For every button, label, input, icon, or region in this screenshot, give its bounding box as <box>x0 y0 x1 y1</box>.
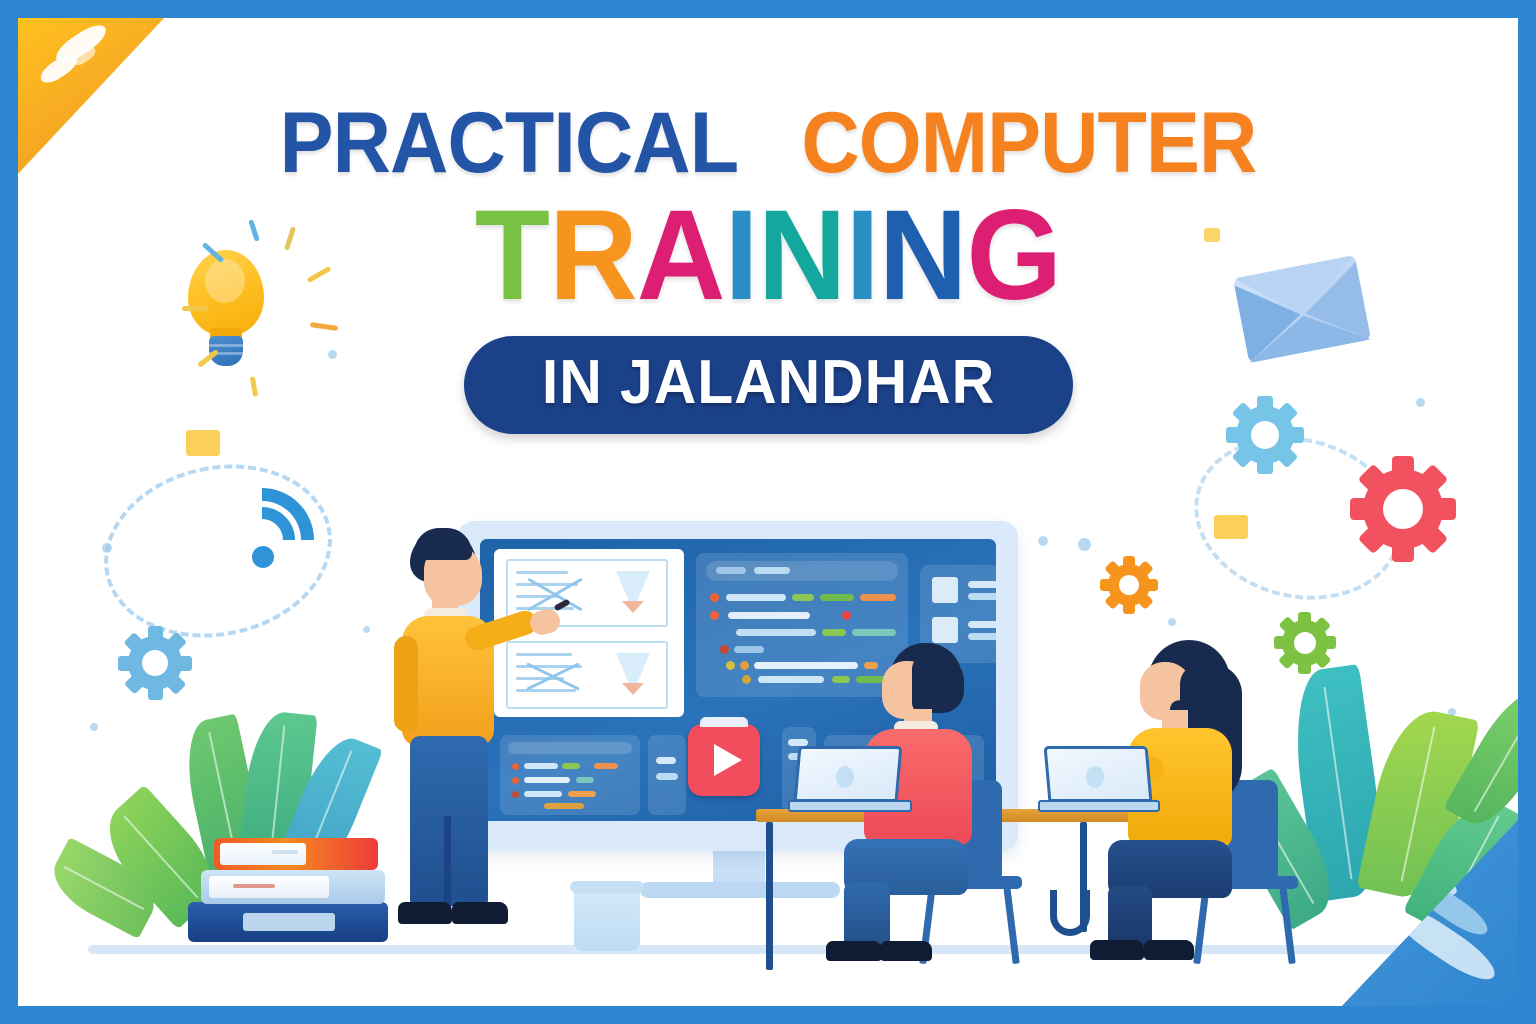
headline-word-practical: PRACTICAL <box>280 95 737 191</box>
student-female-shoe-left <box>1090 940 1144 960</box>
headline-letter-r: R <box>549 184 637 327</box>
speck <box>1168 618 1176 626</box>
gear-icon-blue-left <box>118 626 192 700</box>
headline-word-computer: COMPUTER <box>801 95 1256 191</box>
sticky-note-yellow-right <box>1214 515 1248 539</box>
video-play-button[interactable] <box>688 724 760 796</box>
waste-bin <box>570 879 644 951</box>
speck <box>1078 538 1091 551</box>
student-male-shoe-left <box>826 941 882 961</box>
instructor-figure <box>388 530 538 960</box>
instructor-hair-top <box>414 528 472 560</box>
instructor-arm-back <box>394 636 418 732</box>
laptop-left[interactable] <box>788 746 912 818</box>
book-middle <box>201 870 385 904</box>
laptop-right[interactable] <box>1038 746 1160 818</box>
headline-line-1: PRACTICAL COMPUTER <box>63 100 1473 186</box>
headline-letter-n1: N <box>758 184 846 327</box>
headline-line-2: TRAINING <box>48 192 1488 320</box>
location-pill[interactable]: IN JALANDHAR <box>464 336 1073 434</box>
student-male-hair-back <box>912 655 964 713</box>
monitor-neck <box>713 851 765 885</box>
gear-icon-red <box>1350 456 1456 562</box>
headline-letter-t: T <box>475 184 549 327</box>
desk-leg-curve <box>1050 890 1090 936</box>
headline-letter-i2: I <box>846 184 879 327</box>
speck <box>1038 536 1048 546</box>
wifi-icon <box>210 488 320 580</box>
headline-letter-n2: N <box>879 184 967 327</box>
student-female-neck <box>1162 710 1188 730</box>
speck <box>363 626 370 633</box>
student-female-lower-leg <box>1108 886 1152 948</box>
student-female-shoe-right <box>1144 940 1194 960</box>
location-pill-wrap: IN JALANDHAR <box>18 320 1518 434</box>
gear-icon-orange <box>1100 556 1158 614</box>
headline-letter-g: G <box>966 184 1061 327</box>
headline-space <box>758 95 780 191</box>
instructor-shoe-left <box>398 902 452 924</box>
location-pill-label: IN JALANDHAR <box>541 352 994 414</box>
lower-small-panel <box>648 735 686 815</box>
desk-leg-left <box>766 822 773 970</box>
student-male-shoe-right <box>880 941 932 961</box>
instructor-shoe-right <box>452 902 508 924</box>
book-top <box>214 838 378 870</box>
instructor-arm-pointing <box>462 608 540 654</box>
book-bottom <box>188 902 388 942</box>
headline-block: PRACTICAL COMPUTER TRAINING IN JALANDHAR <box>18 100 1518 434</box>
poster-canvas: PRACTICAL COMPUTER TRAINING IN JALANDHAR <box>18 18 1518 1006</box>
headline-letter-i1: I <box>725 184 758 327</box>
headline-letter-a: A <box>637 184 725 327</box>
instructor-leg-gap <box>444 816 451 908</box>
student-male-lower-leg <box>844 883 890 949</box>
poster-root: PRACTICAL COMPUTER TRAINING IN JALANDHAR <box>0 0 1536 1024</box>
